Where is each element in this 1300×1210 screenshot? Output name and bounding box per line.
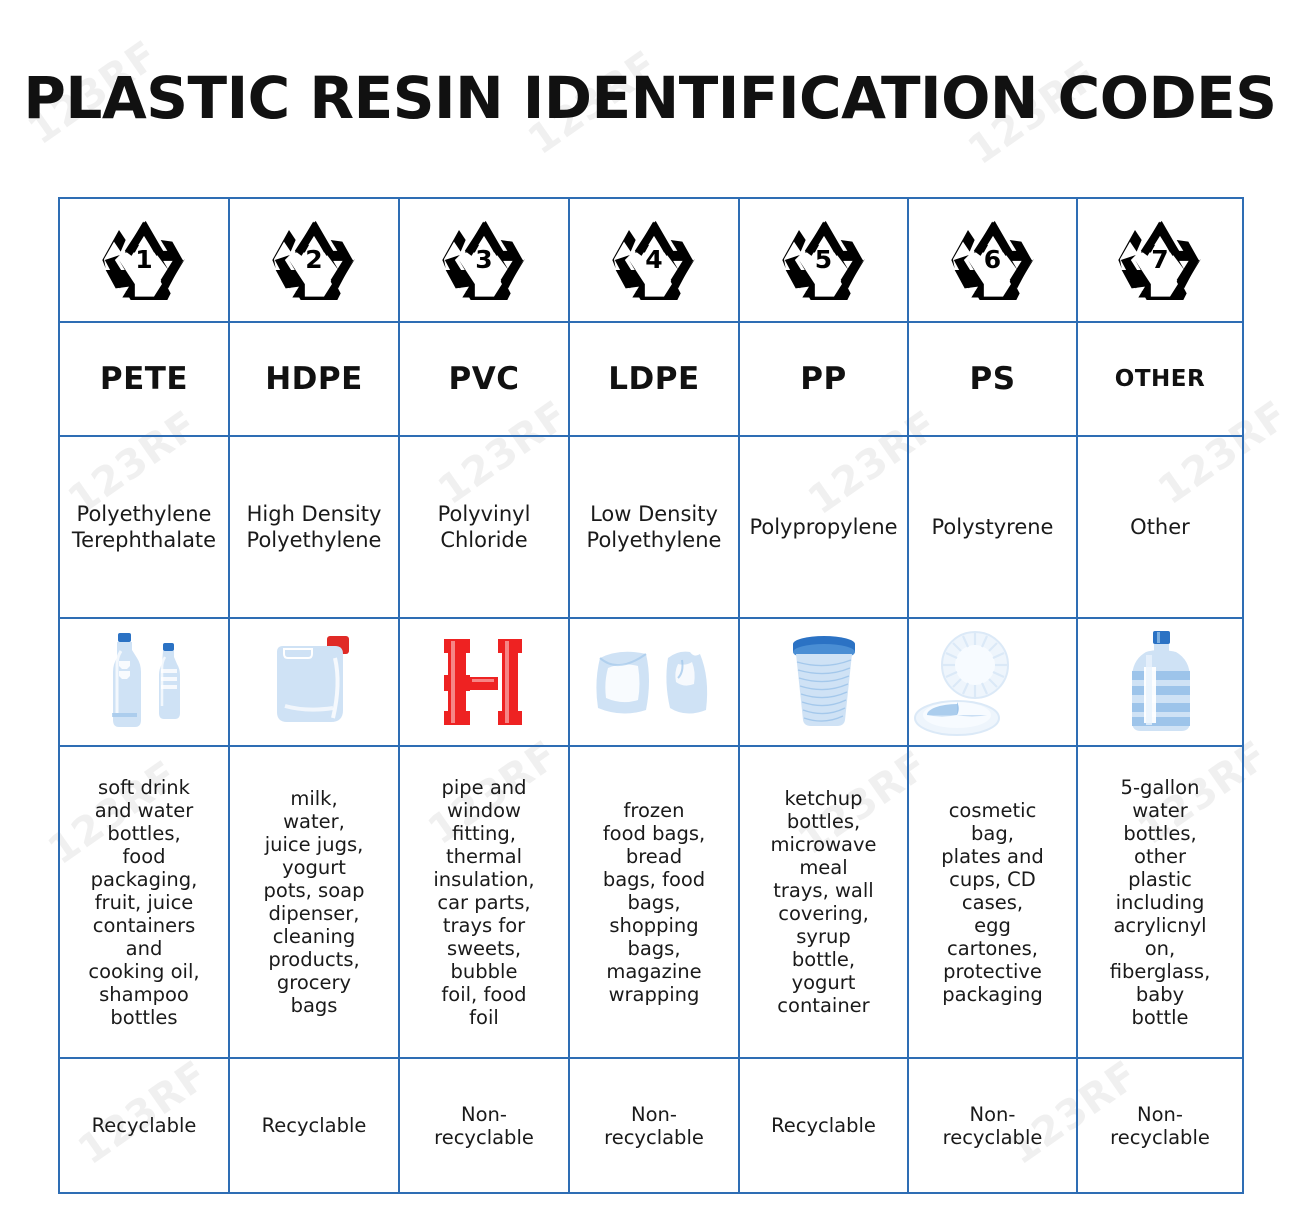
red-pipe-fitting-icon <box>400 623 568 741</box>
resin-abbreviation: PETE <box>60 361 228 397</box>
cell-symbol-1: 1 <box>59 198 229 322</box>
cell-name-2: High Density Polyethylene <box>229 436 399 618</box>
recyclability-status: Non- recyclable <box>570 1103 738 1149</box>
table-row-full-names: Polyethylene Terephthalate High Density … <box>59 436 1243 618</box>
plastic-bags-icon <box>570 623 738 741</box>
recycling-mobius-loop-icon: 2 <box>272 220 356 300</box>
cell-uses-7: 5-gallon water bottles, other plastic in… <box>1077 746 1243 1058</box>
cell-symbol-3: 3 <box>399 198 569 322</box>
cell-recyclability-7: Non- recyclable <box>1077 1058 1243 1193</box>
cell-abbr-1: PETE <box>59 322 229 436</box>
cell-recyclability-1: Recyclable <box>59 1058 229 1193</box>
resin-code-number: 6 <box>951 245 1035 274</box>
table-row-symbols: 1 <box>59 198 1243 322</box>
cell-symbol-6: 6 <box>908 198 1077 322</box>
resin-abbreviation: PVC <box>400 361 568 397</box>
resin-full-name: High Density Polyethylene <box>230 501 398 554</box>
cell-recyclability-4: Non- recyclable <box>569 1058 739 1193</box>
recycling-mobius-loop-icon: 6 <box>951 220 1035 300</box>
cell-illustration-6 <box>908 618 1077 746</box>
cell-name-1: Polyethylene Terephthalate <box>59 436 229 618</box>
plastic-water-bottles-icon <box>60 623 228 741</box>
cell-abbr-5: PP <box>739 322 908 436</box>
resin-code-number: 4 <box>612 245 696 274</box>
cell-name-5: Polypropylene <box>739 436 908 618</box>
cell-recyclability-2: Recyclable <box>229 1058 399 1193</box>
resin-codes-table: 1 <box>58 197 1242 1194</box>
resin-code-number: 5 <box>782 245 866 274</box>
table-row-illustrations <box>59 618 1243 746</box>
cell-abbr-6: PS <box>908 322 1077 436</box>
cell-abbr-3: PVC <box>399 322 569 436</box>
cell-illustration-5 <box>739 618 908 746</box>
resin-code-number: 1 <box>102 245 186 274</box>
resin-abbreviation: OTHER <box>1078 366 1242 392</box>
resin-full-name: Other <box>1078 514 1242 540</box>
recycling-mobius-loop-icon: 3 <box>442 220 526 300</box>
five-gallon-water-jug-icon <box>1078 623 1242 741</box>
recycling-mobius-loop-icon: 4 <box>612 220 696 300</box>
cell-symbol-5: 5 <box>739 198 908 322</box>
resin-abbreviation: HDPE <box>230 361 398 397</box>
resin-code-number: 3 <box>442 245 526 274</box>
resin-full-name: Polyethylene Terephthalate <box>60 501 228 554</box>
cell-name-7: Other <box>1077 436 1243 618</box>
resin-full-name: Polystyrene <box>909 514 1076 540</box>
cell-recyclability-6: Non- recyclable <box>908 1058 1077 1193</box>
cell-name-3: Polyvinyl Chloride <box>399 436 569 618</box>
cell-symbol-4: 4 <box>569 198 739 322</box>
cell-abbr-4: LDPE <box>569 322 739 436</box>
cell-illustration-7 <box>1077 618 1243 746</box>
cell-abbr-2: HDPE <box>229 322 399 436</box>
cell-uses-3: pipe and window fitting, thermal insulat… <box>399 746 569 1058</box>
recycling-mobius-loop-icon: 5 <box>782 220 866 300</box>
cell-recyclability-5: Recyclable <box>739 1058 908 1193</box>
cell-uses-6: cosmetic bag, plates and cups, CD cases,… <box>908 746 1077 1058</box>
recyclability-status: Recyclable <box>230 1114 398 1137</box>
cell-name-4: Low Density Polyethylene <box>569 436 739 618</box>
foam-plate-and-tray-icon <box>909 623 1029 741</box>
recycling-mobius-loop-icon: 1 <box>102 220 186 300</box>
recyclability-status: Non- recyclable <box>400 1103 568 1149</box>
cell-name-6: Polystyrene <box>908 436 1077 618</box>
resin-uses: soft drink and water bottles, food packa… <box>60 776 228 1029</box>
cell-abbr-7: OTHER <box>1077 322 1243 436</box>
cell-recyclability-3: Non- recyclable <box>399 1058 569 1193</box>
resin-uses: 5-gallon water bottles, other plastic in… <box>1078 776 1242 1029</box>
recyclability-status: Recyclable <box>60 1114 228 1137</box>
recyclability-status: Non- recyclable <box>909 1103 1076 1149</box>
resin-uses: ketchup bottles, microwave meal trays, w… <box>740 787 907 1017</box>
cell-illustration-1 <box>59 618 229 746</box>
resin-full-name: Polyvinyl Chloride <box>400 501 568 554</box>
cell-illustration-2 <box>229 618 399 746</box>
table-row-abbreviations: PETE HDPE PVC LDPE PP PS OTHER <box>59 322 1243 436</box>
resin-abbreviation: LDPE <box>570 361 738 397</box>
cell-uses-4: frozen food bags, bread bags, food bags,… <box>569 746 739 1058</box>
cell-uses-2: milk, water, juice jugs, yogurt pots, so… <box>229 746 399 1058</box>
recyclability-status: Recyclable <box>740 1114 907 1137</box>
resin-code-number: 2 <box>272 245 356 274</box>
resin-full-name: Polypropylene <box>740 514 907 540</box>
page-title: PLASTIC RESIN IDENTIFICATION CODES <box>0 64 1300 132</box>
recycling-mobius-loop-icon: 7 <box>1118 220 1202 300</box>
cell-illustration-3 <box>399 618 569 746</box>
resin-uses: milk, water, juice jugs, yogurt pots, so… <box>230 787 398 1017</box>
resin-code-number: 7 <box>1118 245 1202 274</box>
cell-symbol-2: 2 <box>229 198 399 322</box>
cell-illustration-4 <box>569 618 739 746</box>
resin-uses: cosmetic bag, plates and cups, CD cases,… <box>909 799 1076 1006</box>
resin-uses: pipe and window fitting, thermal insulat… <box>400 776 568 1029</box>
recyclability-status: Non- recyclable <box>1078 1103 1242 1149</box>
resin-abbreviation: PS <box>909 361 1076 397</box>
resin-abbreviation: PP <box>740 361 907 397</box>
table-row-uses: soft drink and water bottles, food packa… <box>59 746 1243 1058</box>
resin-full-name: Low Density Polyethylene <box>570 501 738 554</box>
cell-symbol-7: 7 <box>1077 198 1243 322</box>
cell-uses-5: ketchup bottles, microwave meal trays, w… <box>739 746 908 1058</box>
table-row-recyclability: Recyclable Recyclable Non- recyclable No… <box>59 1058 1243 1193</box>
cell-uses-1: soft drink and water bottles, food packa… <box>59 746 229 1058</box>
resin-uses: frozen food bags, bread bags, food bags,… <box>570 799 738 1006</box>
plastic-cup-with-lid-icon <box>740 623 907 741</box>
jerry-can-icon <box>230 623 398 741</box>
